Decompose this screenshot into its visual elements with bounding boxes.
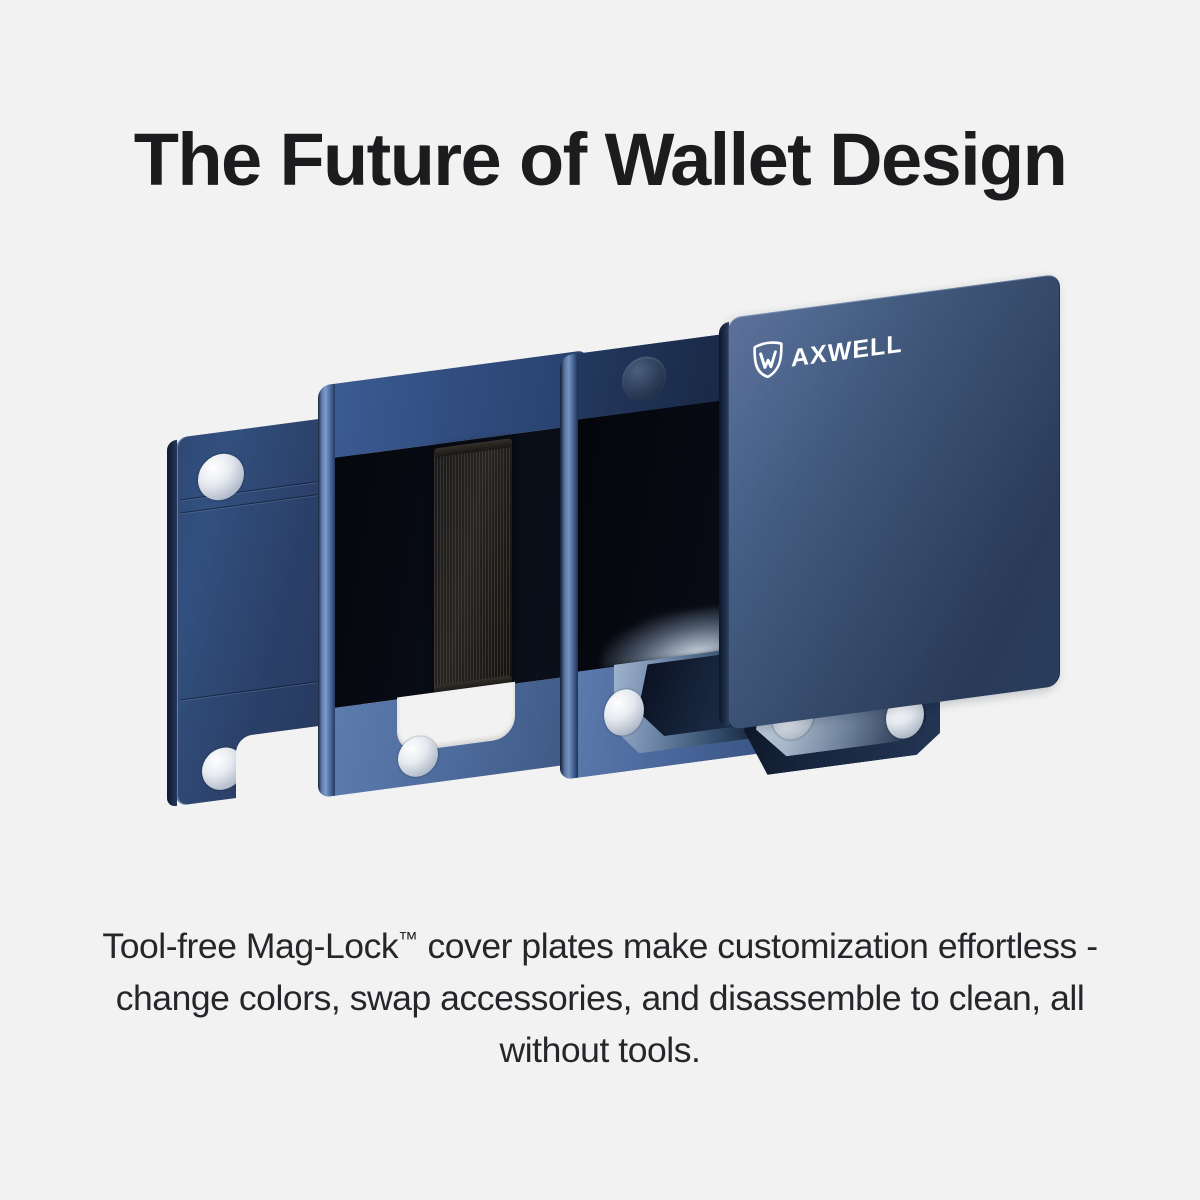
- plate-left-edge: [167, 440, 177, 807]
- plate-left-edge: [719, 322, 729, 727]
- wallet-layer-front-cover-plate: AXWELL: [728, 274, 1060, 730]
- wallet-layer-card-cage: [318, 350, 586, 798]
- magnet-puck-dark-icon: [622, 354, 666, 404]
- brand-logo: AXWELL: [752, 323, 903, 386]
- shield-w-icon: [752, 339, 784, 386]
- description-line-1-part-2: cover plates make customization: [418, 926, 928, 966]
- description-line-1-part-1: Tool-free Mag-Lock: [102, 926, 398, 966]
- frame-left-rail: [560, 354, 578, 780]
- magnet-puck-icon: [198, 451, 244, 503]
- brand-wordmark: AXWELL: [791, 332, 903, 372]
- feature-description: Tool-free Mag-Lock™ cover plates make cu…: [78, 920, 1122, 1077]
- product-feature-card: The Future of Wallet Design: [0, 0, 1200, 1200]
- cage-left-rail: [318, 384, 335, 798]
- trademark-symbol: ™: [398, 929, 418, 951]
- elastic-cash-strap: [434, 438, 512, 694]
